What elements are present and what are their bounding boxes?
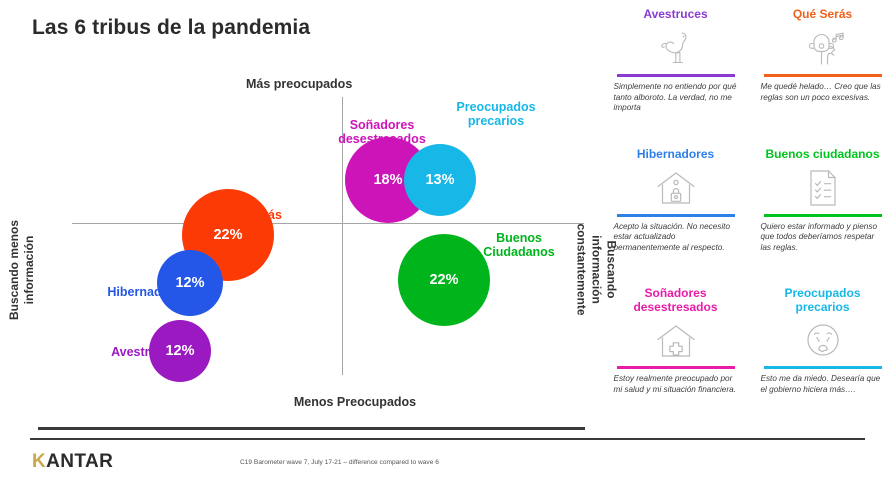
tribe-card-5[interactable]: Preocupados precarios Esto me da miedo. …	[757, 287, 888, 423]
axis-label-buscando-menos-informacion: Buscando menos información	[7, 215, 37, 325]
tribe-name-2: Hibernadores	[637, 148, 714, 162]
tribe-card-0[interactable]: Avestruces Simplemente no entiendo por q…	[610, 8, 741, 144]
tribe-name-5: Preocupados precarios	[757, 287, 888, 314]
axis-label-mas-preocupados: Más preocupados	[246, 77, 352, 91]
tribe-rule-2	[617, 214, 735, 217]
house-medical-icon	[652, 317, 700, 363]
tribe-quote-5: Esto me da miedo. Desearía que el gobier…	[761, 374, 885, 395]
bubble-3[interactable]: 12%	[157, 250, 223, 316]
tribe-quote-1: Me quedé helado… Creo que las reglas son…	[761, 82, 885, 103]
bubble-1[interactable]: 13%	[404, 144, 476, 216]
tribe-name-0: Avestruces	[643, 8, 707, 22]
tribe-card-1[interactable]: Qué Serás Me quedé helado… Creo que las …	[757, 8, 888, 144]
horizontal-axis-line	[72, 223, 584, 224]
footer-divider	[30, 438, 865, 440]
bubble-value-1: 13%	[425, 172, 454, 188]
tribe-name-4: Soñadores desestresados	[610, 287, 741, 314]
bubble-4[interactable]: 12%	[149, 320, 211, 382]
bubble-value-0: 18%	[373, 172, 402, 188]
house-lock-icon	[652, 165, 700, 211]
bubble-chart: Más preocupados Menos Preocupados Buscan…	[0, 55, 600, 435]
tribe-rule-3	[764, 214, 882, 217]
tribe-rule-1	[764, 74, 882, 77]
tribe-rule-4	[617, 366, 735, 369]
tribe-quote-0: Simplemente no entiendo por qué tanto al…	[614, 82, 738, 114]
chart-baseline	[38, 427, 585, 430]
worried-face-icon	[801, 317, 845, 363]
axis-label-menos-preocupados: Menos Preocupados	[290, 395, 420, 410]
bubble-5[interactable]: 22%	[398, 234, 490, 326]
kantar-logo-text: ANTAR	[46, 451, 113, 472]
headphones-person-icon	[797, 25, 849, 71]
tribe-name-3: Buenos ciudadanos	[765, 148, 879, 162]
checklist-icon	[803, 165, 843, 211]
source-note: C19 Barometer wave 7, July 17-21 – diffe…	[240, 459, 439, 466]
bubble-value-3: 12%	[175, 275, 204, 291]
tribe-rule-5	[764, 366, 882, 369]
slide-root: Las 6 tribus de la pandemia Más preocupa…	[0, 0, 894, 482]
axis-label-menos-preocupados-text: Menos Preocupados	[294, 395, 416, 409]
bubble-label-1: Preocupados precarios	[446, 100, 546, 128]
tribe-quote-2: Acepto la situación. No necesito estar a…	[614, 222, 738, 254]
ostrich-icon	[654, 25, 698, 71]
kantar-logo-accent: K	[32, 451, 46, 472]
tribe-card-2[interactable]: Hibernadores Acepto la situación. No nec…	[610, 148, 741, 284]
tribe-card-3[interactable]: Buenos ciudadanos Quiero estar informado…	[757, 148, 888, 284]
tribe-name-1: Qué Serás	[793, 8, 852, 22]
tribes-panel: Avestruces Simplemente no entiendo por q…	[610, 8, 888, 423]
tribe-rule-0	[617, 74, 735, 77]
page-title: Las 6 tribus de la pandemia	[32, 16, 310, 40]
bubble-value-5: 22%	[429, 272, 458, 288]
tribe-quote-4: Estoy realmente preocupado por mi salud …	[614, 374, 738, 395]
bubble-value-4: 12%	[165, 343, 194, 359]
tribe-quote-3: Quiero estar informado y pienso que todo…	[761, 222, 885, 254]
bubble-value-2: 22%	[213, 227, 242, 243]
kantar-logo: KANTAR	[32, 451, 113, 473]
tribe-card-4[interactable]: Soñadores desestresados Estoy realmente …	[610, 287, 741, 423]
